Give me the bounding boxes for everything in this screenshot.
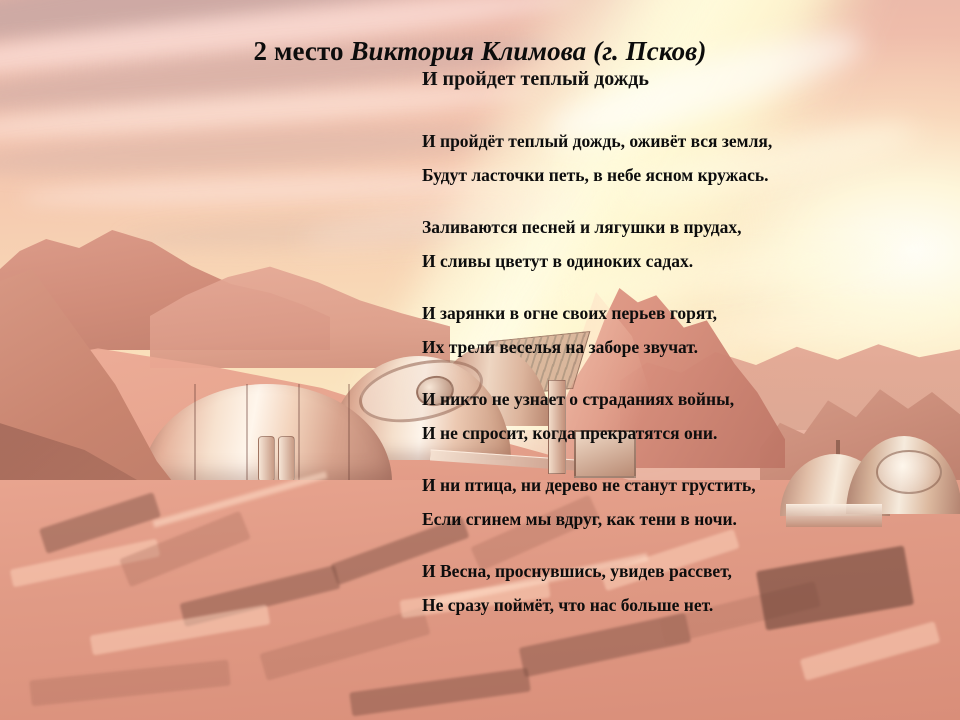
poem-line: И зарянки в огне своих перьев горят, xyxy=(422,305,942,339)
poem-line: И пройдёт теплый дождь, оживёт вся земля… xyxy=(422,133,942,167)
poem-line: Заливаются песней и лягушки в прудах, xyxy=(422,219,942,253)
rock xyxy=(349,668,531,717)
dome-rib xyxy=(298,384,300,482)
dome-rib xyxy=(246,384,248,482)
poem-line: И Весна, проснувшись, увидев рассвет, xyxy=(422,563,942,597)
poem-line: И не спросит, когда прекратятся они. xyxy=(422,425,942,477)
poem-line: И никто не узнает о страданиях войны, xyxy=(422,391,942,425)
poem-line: Их трели веселья на заборе звучат. xyxy=(422,339,942,391)
dome-rib xyxy=(194,384,196,482)
dome-rib xyxy=(348,384,350,482)
poem-line: Будут ласточки петь, в небе ясном кружас… xyxy=(422,167,942,219)
rock xyxy=(29,660,231,707)
title-prefix: 2 место xyxy=(254,36,351,66)
rock xyxy=(259,607,430,681)
title-author: Виктория Климова (г. Псков) xyxy=(350,36,706,66)
storage-tank xyxy=(258,436,275,482)
storage-tank xyxy=(278,436,295,482)
poem-line: Не сразу поймёт, что нас больше нет. xyxy=(422,597,942,649)
poem-line: И сливы цветут в одиноких садах. xyxy=(422,253,942,305)
poem-line: Если сгинем мы вдруг, как тени в ночи. xyxy=(422,511,942,563)
poem-body: И пройдёт теплый дождь, оживёт вся земля… xyxy=(422,133,942,649)
rock xyxy=(90,605,271,656)
slide-title: 2 место Виктория Климова (г. Псков) xyxy=(0,36,960,67)
presentation-slide: 2 место Виктория Климова (г. Псков) И пр… xyxy=(0,0,960,720)
poem-line: И ни птица, ни дерево не станут грустить… xyxy=(422,477,942,511)
poem-title: И пройдет теплый дождь xyxy=(422,68,649,91)
